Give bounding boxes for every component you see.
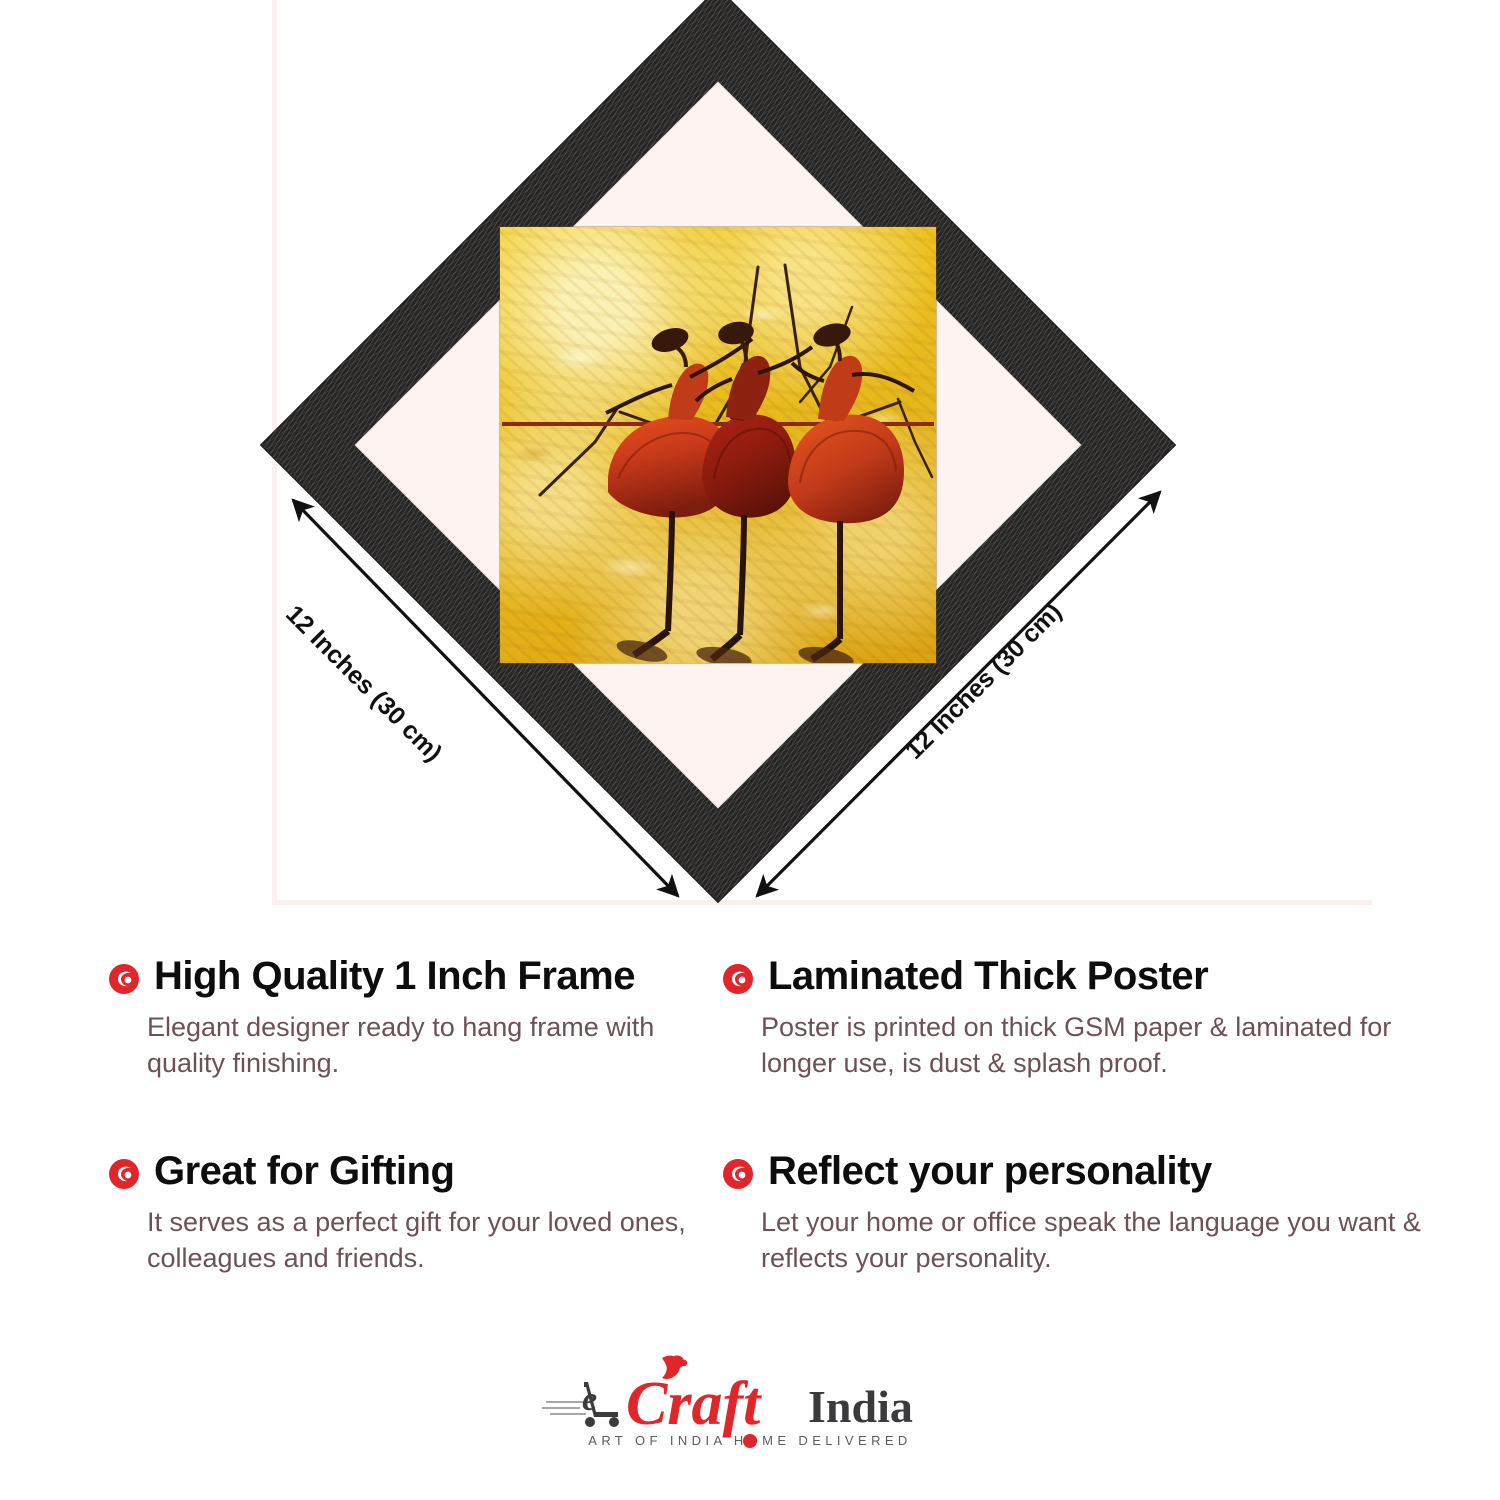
ecraftindia-bullet-icon	[722, 963, 754, 995]
feature-description: Poster is printed on thick GSM paper & l…	[761, 1009, 1442, 1082]
feature-heading-row: Great for Gifting	[108, 1150, 708, 1192]
ecraftindia-bullet-icon	[722, 1158, 754, 1190]
feature-heading-row: High Quality 1 Inch Frame	[108, 955, 708, 997]
tagline-dot	[743, 1434, 757, 1448]
product-hero: 12 Inches (30 cm) 12 Inches (30 cm)	[0, 0, 1500, 935]
dimension-label-left: 12 Inches (30 cm)	[279, 600, 447, 768]
feature-item-high-quality-frame: High Quality 1 Inch Frame Elegant design…	[108, 955, 708, 1082]
feature-description: It serves as a perfect gift for your lov…	[147, 1204, 708, 1277]
ecraftindia-wordmark: e Craft India ART OF INDIA HOME DELIVERE…	[540, 1352, 960, 1452]
feature-item-reflect-your-personality: Reflect your personality Let your home o…	[722, 1150, 1442, 1277]
brand-logo-mark: e Craft India ART OF INDIA HOME DELIVERE…	[540, 1352, 960, 1452]
feature-title: High Quality 1 Inch Frame	[154, 955, 635, 997]
brand-name-red: Craft	[626, 1370, 762, 1438]
brand-prefix: e	[582, 1381, 597, 1418]
brand-logo: e Craft India ART OF INDIA HOME DELIVERE…	[0, 1352, 1500, 1500]
feature-list: High Quality 1 Inch Frame Elegant design…	[0, 935, 1500, 1340]
feature-title: Great for Gifting	[154, 1150, 454, 1192]
feature-title: Reflect your personality	[768, 1150, 1212, 1192]
brand-name-dark: India	[808, 1381, 913, 1432]
feature-title: Laminated Thick Poster	[768, 955, 1208, 997]
feature-description: Elegant designer ready to hang frame wit…	[147, 1009, 708, 1082]
feature-item-laminated-thick-poster: Laminated Thick Poster Poster is printed…	[722, 955, 1442, 1082]
framed-artwork	[261, 0, 1175, 902]
ecraftindia-bullet-icon	[108, 1158, 140, 1190]
feature-description: Let your home or office speak the langua…	[761, 1204, 1442, 1277]
ecraftindia-bullet-icon	[108, 963, 140, 995]
feature-item-great-for-gifting: Great for Gifting It serves as a perfect…	[108, 1150, 708, 1277]
feature-heading-row: Laminated Thick Poster	[722, 955, 1442, 997]
feature-heading-row: Reflect your personality	[722, 1150, 1442, 1192]
